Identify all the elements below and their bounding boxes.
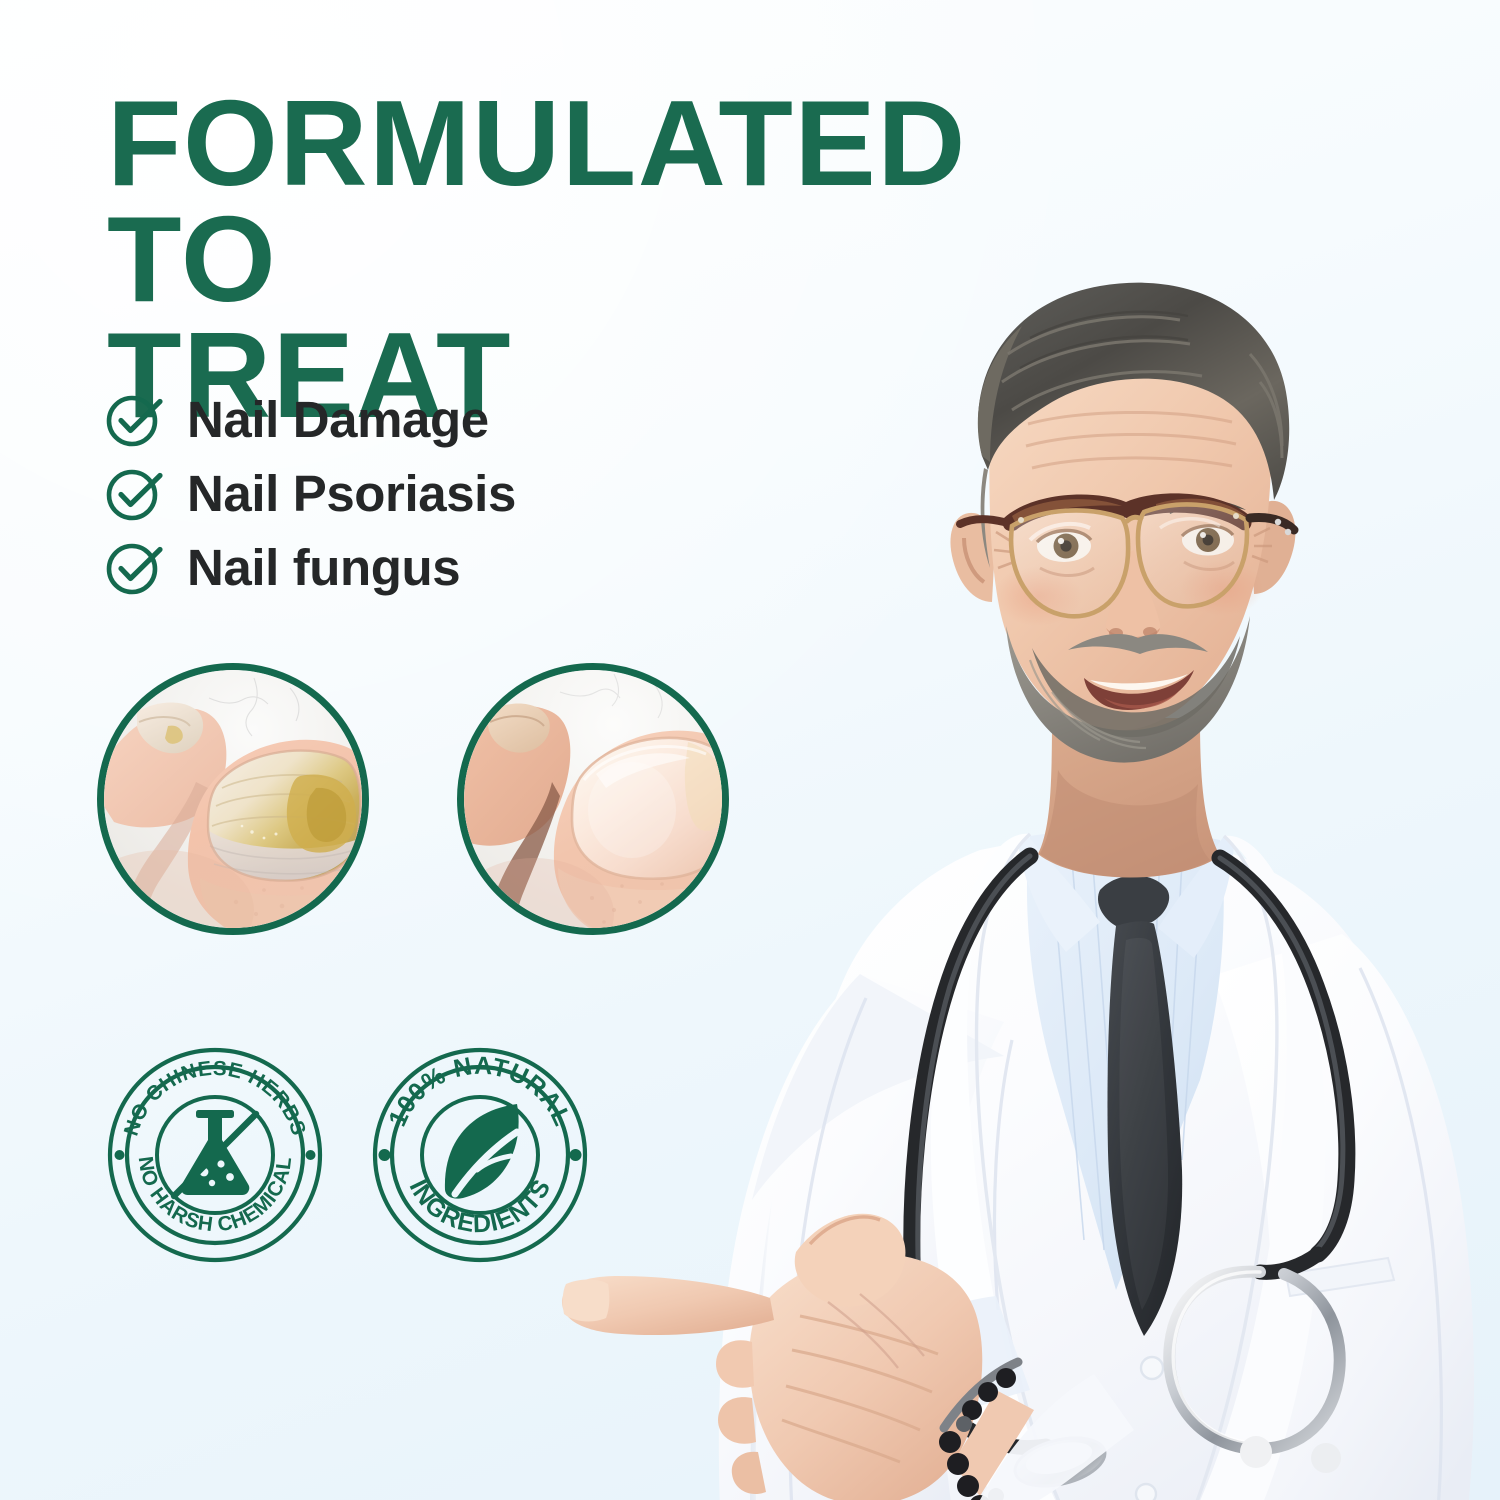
no-chinese-herbs-badge: NO CHINESE HERBS NO HARSH CHEMICAL [104, 1044, 326, 1266]
check-circle-icon [103, 388, 165, 450]
doctor-head [950, 283, 1295, 763]
promo-image-canvas: FORMULATED TO TREAT Nail Damage Nail Pso… [0, 0, 1500, 1500]
before-photo [97, 663, 369, 935]
list-item-label: Nail Psoriasis [187, 464, 516, 523]
leaf-icon [445, 1104, 519, 1199]
check-circle-icon [103, 462, 165, 524]
before-photo-image [104, 670, 362, 928]
list-item-label: Nail fungus [187, 538, 460, 597]
doctor-photo [560, 250, 1500, 1500]
list-item-label: Nail Damage [187, 390, 489, 449]
natural-ingredients-badge: 100% NATURAL INGREDIENTS [369, 1044, 591, 1266]
check-circle-icon [103, 536, 165, 598]
